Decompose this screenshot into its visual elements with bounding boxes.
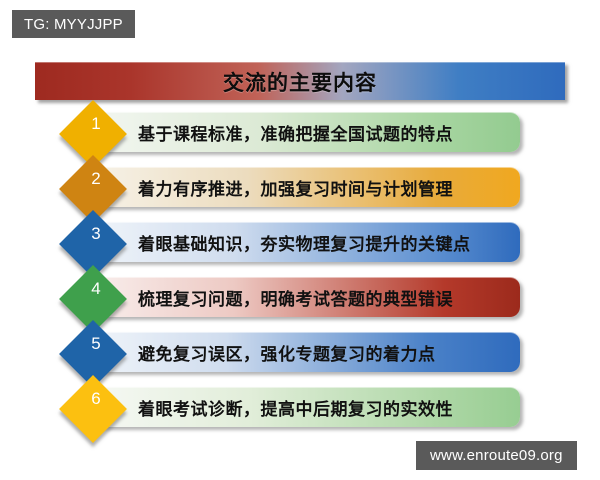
step-number-6: 6 — [62, 390, 130, 407]
step-number-4: 4 — [62, 280, 130, 297]
content-bar-2[interactable]: 着力有序推进，加强复习时间与计划管理 — [100, 167, 520, 207]
list-item[interactable]: 着力有序推进，加强复习时间与计划管理 2 — [0, 159, 600, 214]
content-bar-label-3: 着眼基础知识，夯实物理复习提升的关键点 — [100, 230, 471, 255]
step-number-1: 1 — [62, 115, 130, 132]
step-marker-6[interactable]: 6 — [62, 378, 130, 446]
watermark-top-left: TG: MYYJJPP — [12, 10, 135, 38]
step-number-5: 5 — [62, 335, 130, 352]
slide-canvas: 交流的主要内容 基于课程标准，准确把握全国试题的特点 1 着力有序推进，加强复习… — [0, 0, 600, 480]
content-bar-6[interactable]: 着眼考试诊断，提高中后期复习的实效性 — [100, 387, 520, 427]
step-number-2: 2 — [62, 170, 130, 187]
list-item[interactable]: 着眼基础知识，夯实物理复习提升的关键点 3 — [0, 214, 600, 269]
content-bar-label-6: 着眼考试诊断，提高中后期复习的实效性 — [100, 395, 453, 420]
content-bar-3[interactable]: 着眼基础知识，夯实物理复习提升的关键点 — [100, 222, 520, 262]
content-bar-label-2: 着力有序推进，加强复习时间与计划管理 — [100, 175, 453, 200]
content-bar-label-4: 梳理复习问题，明确考试答题的典型错误 — [100, 285, 453, 310]
content-bar-5[interactable]: 避免复习误区，强化专题复习的着力点 — [100, 332, 520, 372]
content-bar-label-1: 基于课程标准，准确把握全国试题的特点 — [100, 120, 453, 145]
list-item[interactable]: 着眼考试诊断，提高中后期复习的实效性 6 — [0, 379, 600, 434]
diamond-shape-icon — [59, 375, 127, 443]
page-title: 交流的主要内容 — [223, 67, 377, 97]
list-item[interactable]: 梳理复习问题，明确考试答题的典型错误 4 — [0, 269, 600, 324]
content-bar-label-5: 避免复习误区，强化专题复习的着力点 — [100, 340, 436, 365]
watermark-bottom-right: www.enroute09.org — [416, 441, 577, 470]
step-number-3: 3 — [62, 225, 130, 242]
slide-title-banner: 交流的主要内容 — [35, 62, 565, 100]
content-bar-4[interactable]: 梳理复习问题，明确考试答题的典型错误 — [100, 277, 520, 317]
list-item[interactable]: 避免复习误区，强化专题复习的着力点 5 — [0, 324, 600, 379]
content-bar-1[interactable]: 基于课程标准，准确把握全国试题的特点 — [100, 112, 520, 152]
list-item[interactable]: 基于课程标准，准确把握全国试题的特点 1 — [0, 104, 600, 159]
